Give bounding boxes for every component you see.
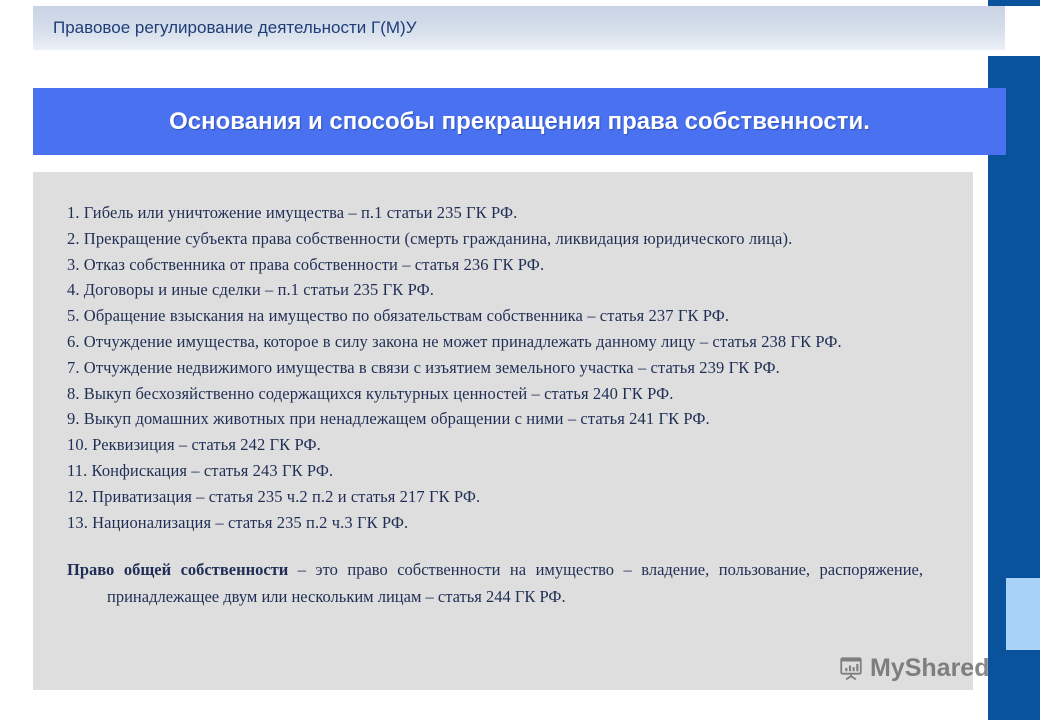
list-item: 11. Конфискация – статья 243 ГК РФ. bbox=[67, 458, 953, 484]
list-item: 6. Отчуждение имущества, которое в силу … bbox=[67, 329, 953, 355]
myshared-watermark-label: MyShared bbox=[870, 656, 989, 681]
presentation-screen-icon bbox=[838, 655, 864, 681]
slide-title: Основания и способы прекращения права со… bbox=[169, 108, 870, 136]
list-item: 7. Отчуждение недвижимого имущества в св… bbox=[67, 355, 953, 381]
summary-term: Право общей собственности bbox=[67, 560, 288, 579]
decor-right-blue-panel-lower-left bbox=[988, 578, 1006, 650]
grounds-list: 1. Гибель или уничтожение имущества – п.… bbox=[67, 200, 953, 535]
list-item: 1. Гибель или уничтожение имущества – п.… bbox=[67, 200, 953, 226]
list-item: 8. Выкуп бесхозяйственно содержащихся ку… bbox=[67, 381, 953, 407]
list-item: 12. Приватизация – статья 235 ч.2 п.2 и … bbox=[67, 484, 953, 510]
list-item: 5. Обращение взыскания на имущество по о… bbox=[67, 303, 953, 329]
list-item: 13. Национализация – статья 235 п.2 ч.3 … bbox=[67, 510, 953, 536]
list-item: 2. Прекращение субъекта права собственно… bbox=[67, 226, 953, 252]
myshared-watermark: MyShared bbox=[838, 655, 989, 681]
decor-light-blue-accent bbox=[1006, 578, 1040, 650]
summary-paragraph: Право общей собственности – это право со… bbox=[67, 557, 953, 610]
list-item: 4. Договоры и иные сделки – п.1 статьи 2… bbox=[67, 277, 953, 303]
list-item: 9. Выкуп домашних животных при ненадлежа… bbox=[67, 406, 953, 432]
list-item: 10. Реквизиция – статья 242 ГК РФ. bbox=[67, 432, 953, 458]
slide-content-panel: 1. Гибель или уничтожение имущества – п.… bbox=[33, 172, 973, 690]
slide-header-bar: Правовое регулирование деятельности Г(М)… bbox=[33, 6, 1005, 50]
list-item: 3. Отказ собственника от права собственн… bbox=[67, 252, 953, 278]
decor-bottom-blue-bar bbox=[988, 650, 1040, 720]
slide-title-banner: Основания и способы прекращения права со… bbox=[33, 88, 1006, 155]
slide-header-title: Правовое регулирование деятельности Г(М)… bbox=[53, 18, 417, 38]
